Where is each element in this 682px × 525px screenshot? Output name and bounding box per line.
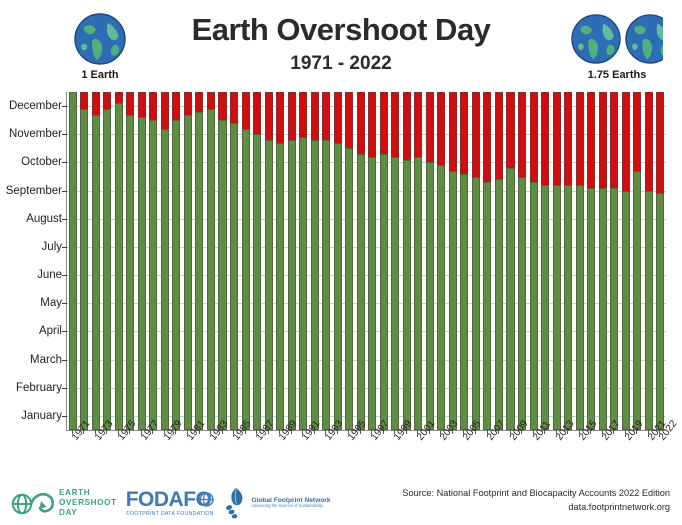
overshoot-segment — [115, 92, 123, 103]
bar-1996 — [357, 92, 365, 430]
overshoot-segment — [449, 92, 457, 171]
biocapacity-segment — [518, 177, 526, 431]
biocapacity-segment — [103, 109, 111, 430]
overshoot-segment — [149, 92, 157, 120]
bar-1987 — [253, 92, 261, 430]
bar-series — [67, 92, 666, 430]
biocapacity-segment — [242, 129, 250, 430]
biocapacity-segment — [288, 140, 296, 430]
biocapacity-segment — [357, 154, 365, 430]
biocapacity-segment — [311, 140, 319, 430]
eod-logo-line-3: DAY — [59, 508, 117, 518]
x-axis-tick — [360, 430, 361, 434]
biocapacity-segment — [506, 168, 514, 430]
overshoot-segment — [645, 92, 653, 191]
x-axis-tick — [452, 430, 453, 434]
overshoot-segment — [299, 92, 307, 137]
bar-2007 — [483, 92, 491, 430]
biocapacity-segment — [380, 154, 388, 430]
y-axis-label: May — [40, 297, 62, 309]
source-line-2: data.footprintnetwork.org — [402, 500, 670, 514]
x-axis-tick — [106, 430, 107, 434]
biocapacity-segment — [426, 162, 434, 430]
earth-overshoot-day-logo[interactable]: EARTH OVERSHOOT DAY — [10, 488, 117, 518]
header: Earth Overshoot Day 1971 - 2022 1 Earth — [0, 0, 682, 92]
y-axis-label: November — [9, 128, 62, 140]
earth-overshoot-day-infographic: Earth Overshoot Day 1971 - 2022 1 Earth — [0, 0, 682, 525]
y-axis-label: December — [9, 100, 62, 112]
globe-loop-icon — [10, 488, 56, 518]
globe-row-left — [52, 10, 148, 68]
overshoot-segment — [495, 92, 503, 179]
x-axis-tick — [636, 430, 637, 434]
overshoot-segment — [587, 92, 595, 188]
overshoot-segment — [403, 92, 411, 160]
eod-logo-line-2: OVERSHOOT — [59, 498, 117, 508]
biocapacity-segment — [472, 177, 480, 431]
globe-row-right — [552, 10, 682, 68]
bar-2017 — [599, 92, 607, 430]
overshoot-segment — [530, 92, 538, 182]
biocapacity-segment — [599, 188, 607, 430]
x-axis-tick — [337, 430, 338, 434]
biocapacity-segment — [138, 117, 146, 430]
biocapacity-segment — [218, 120, 226, 430]
overshoot-segment — [483, 92, 491, 182]
gfn-tagline: Advancing the Science of Sustainability — [251, 504, 330, 509]
bar-1985 — [230, 92, 238, 430]
fodafo-tagline: FOOTPRINT DATA FOUNDATION — [126, 511, 213, 517]
y-axis-label: August — [26, 213, 62, 225]
bar-2008 — [495, 92, 503, 430]
overshoot-segment — [242, 92, 250, 129]
overshoot-segment — [195, 92, 203, 112]
x-axis-tick — [544, 430, 545, 434]
biocapacity-segment — [530, 182, 538, 430]
overshoot-segment — [553, 92, 561, 185]
globe-dot-icon — [199, 492, 214, 507]
bar-2005 — [460, 92, 468, 430]
bar-1982 — [195, 92, 203, 430]
overshoot-segment — [518, 92, 526, 177]
overshoot-segment — [218, 92, 226, 120]
overshoot-segment — [80, 92, 88, 109]
overshoot-segment — [357, 92, 365, 154]
biocapacity-segment — [265, 140, 273, 430]
biocapacity-segment — [230, 123, 238, 430]
overshoot-segment — [391, 92, 399, 157]
overshoot-segment — [138, 92, 146, 117]
bar-1971 — [69, 92, 77, 430]
biocapacity-segment — [403, 160, 411, 430]
overshoot-segment — [334, 92, 342, 143]
overshoot-segment — [265, 92, 273, 140]
y-axis-label: February — [16, 382, 62, 394]
x-axis-tick — [314, 430, 315, 434]
overshoot-segment — [437, 92, 445, 165]
x-axis-tick — [383, 430, 384, 434]
biocapacity-segment — [276, 143, 284, 430]
overshoot-segment — [472, 92, 480, 177]
overshoot-segment — [288, 92, 296, 140]
overshoot-segment — [184, 92, 192, 115]
bar-2010 — [518, 92, 526, 430]
biocapacity-segment — [391, 157, 399, 430]
gfn-text-block: Global Footprint Network Advancing the S… — [251, 497, 330, 509]
biocapacity-segment — [184, 115, 192, 430]
bar-2019 — [622, 92, 630, 430]
overshoot-segment — [576, 92, 584, 185]
x-axis-tick — [498, 430, 499, 434]
biocapacity-segment — [449, 171, 457, 430]
biocapacity-segment — [633, 171, 641, 430]
x-axis-tick — [429, 430, 430, 434]
overshoot-segment — [322, 92, 330, 140]
overshoot-segment — [460, 92, 468, 174]
biocapacity-segment — [495, 179, 503, 430]
overshoot-segment — [230, 92, 238, 123]
x-axis-tick — [199, 430, 200, 434]
x-axis-tick — [83, 430, 84, 434]
overshoot-segment — [541, 92, 549, 185]
bar-1984 — [218, 92, 226, 430]
x-axis-tick — [291, 430, 292, 434]
bar-1975 — [115, 92, 123, 430]
biocapacity-segment — [253, 134, 261, 430]
overshoot-segment — [414, 92, 422, 157]
x-axis-labels: 1971197319751977197919811983198519871989… — [0, 430, 682, 480]
overshoot-segment — [564, 92, 572, 185]
biocapacity-segment — [207, 109, 215, 430]
overshoot-segment — [92, 92, 100, 115]
bar-1977 — [138, 92, 146, 430]
bar-1990 — [288, 92, 296, 430]
biocapacity-segment — [161, 129, 169, 430]
bar-1995 — [345, 92, 353, 430]
bar-2011 — [530, 92, 538, 430]
biocapacity-segment — [368, 157, 376, 430]
bar-2003 — [437, 92, 445, 430]
overshoot-segment — [207, 92, 215, 109]
y-axis-label: July — [42, 241, 62, 253]
overshoot-segment — [172, 92, 180, 120]
biocapacity-segment — [656, 193, 664, 430]
earths-label: 1.75 Earths — [552, 69, 682, 81]
biocapacity-segment — [541, 185, 549, 430]
global-footprint-network-logo[interactable]: Global Footprint Network Advancing the S… — [223, 487, 330, 519]
bar-2004 — [449, 92, 457, 430]
x-axis-tick — [567, 430, 568, 434]
bar-2020 — [633, 92, 641, 430]
biocapacity-segment — [622, 191, 630, 430]
biocapacity-segment — [345, 148, 353, 430]
bar-2021 — [645, 92, 653, 430]
biocapacity-segment — [414, 157, 422, 430]
source-line-1: Source: National Footprint and Biocapaci… — [402, 486, 670, 500]
biocapacity-segment — [553, 185, 561, 430]
overshoot-segment — [426, 92, 434, 162]
overshoot-segment — [276, 92, 284, 143]
bar-2009 — [506, 92, 514, 430]
bar-2001 — [414, 92, 422, 430]
x-axis-tick — [406, 430, 407, 434]
biocapacity-segment — [299, 137, 307, 430]
one-earth-label: 1 Earth — [52, 69, 148, 81]
footer: EARTH OVERSHOOT DAY FODAFO FOOTPRINT DAT… — [0, 478, 682, 525]
biocapacity-segment — [564, 185, 572, 430]
bar-2002 — [426, 92, 434, 430]
biocapacity-segment — [195, 112, 203, 430]
biocapacity-segment — [80, 109, 88, 430]
x-axis-tick — [613, 430, 614, 434]
y-axis-label: June — [37, 269, 62, 281]
bar-2018 — [610, 92, 618, 430]
biocapacity-segment — [115, 103, 123, 430]
logo-group: EARTH OVERSHOOT DAY FODAFO FOOTPRINT DAT… — [10, 483, 331, 523]
x-axis-tick — [175, 430, 176, 434]
x-axis-tick — [268, 430, 269, 434]
biocapacity-segment — [334, 143, 342, 430]
globe-icon — [74, 13, 126, 65]
eod-logo-text: EARTH OVERSHOOT DAY — [59, 488, 117, 518]
biocapacity-segment — [126, 115, 134, 430]
bar-1979 — [161, 92, 169, 430]
biocapacity-segment — [460, 174, 468, 430]
bar-1988 — [265, 92, 273, 430]
x-axis-tick — [521, 430, 522, 434]
overshoot-segment — [103, 92, 111, 109]
biocapacity-segment — [576, 185, 584, 430]
x-axis-tick — [222, 430, 223, 434]
bar-1976 — [126, 92, 134, 430]
bar-2006 — [472, 92, 480, 430]
overshoot-segment — [126, 92, 134, 115]
bar-1991 — [299, 92, 307, 430]
source-attribution: Source: National Footprint and Biocapaci… — [402, 486, 670, 515]
overshoot-segment — [380, 92, 388, 154]
bar-1997 — [368, 92, 376, 430]
y-axis-label: January — [21, 410, 62, 422]
biocapacity-segment — [483, 182, 491, 430]
y-axis-label: March — [30, 354, 62, 366]
globe-icon — [571, 14, 621, 64]
y-axis-labels: JanuaryFebruaryMarchAprilMayJuneJulyAugu… — [0, 92, 62, 430]
overshoot-segment — [656, 92, 664, 193]
biocapacity-segment — [69, 92, 77, 430]
bar-1993 — [322, 92, 330, 430]
y-axis-label: April — [39, 325, 62, 337]
overshoot-segment — [253, 92, 261, 134]
fodafo-wordmark: FODAFO — [126, 489, 215, 510]
x-axis-tick — [590, 430, 591, 434]
chart-plot-area — [66, 92, 665, 430]
one-point-seventyfive-earths-indicator: 1.75 Earths — [552, 10, 682, 81]
bar-1989 — [276, 92, 284, 430]
biocapacity-segment — [437, 165, 445, 430]
fodafo-logo[interactable]: FODAFO FOOTPRINT DATA FOUNDATION — [126, 489, 215, 517]
bar-2015 — [576, 92, 584, 430]
overshoot-segment — [599, 92, 607, 188]
overshoot-segment — [610, 92, 618, 188]
biocapacity-segment — [92, 115, 100, 430]
biocapacity-segment — [322, 140, 330, 430]
bar-2000 — [403, 92, 411, 430]
bar-2014 — [564, 92, 572, 430]
bar-1980 — [172, 92, 180, 430]
overshoot-segment — [633, 92, 641, 171]
bar-1973 — [92, 92, 100, 430]
bar-1981 — [184, 92, 192, 430]
bar-1983 — [207, 92, 215, 430]
bar-1999 — [391, 92, 399, 430]
bar-2022 — [656, 92, 664, 430]
biocapacity-segment — [172, 120, 180, 430]
y-axis-label: September — [6, 185, 62, 197]
bar-2013 — [553, 92, 561, 430]
overshoot-segment — [161, 92, 169, 129]
x-axis-tick — [245, 430, 246, 434]
biocapacity-segment — [610, 188, 618, 430]
overshoot-segment — [506, 92, 514, 168]
overshoot-segment — [622, 92, 630, 191]
x-axis-tick — [475, 430, 476, 434]
bar-1994 — [334, 92, 342, 430]
bar-1974 — [103, 92, 111, 430]
one-earth-indicator: 1 Earth — [52, 10, 148, 81]
eod-logo-line-1: EARTH — [59, 488, 117, 498]
footprint-leaf-icon — [223, 487, 249, 519]
overshoot-segment — [311, 92, 319, 140]
overshoot-segment — [368, 92, 376, 157]
bar-1978 — [149, 92, 157, 430]
y-axis-label: October — [21, 156, 62, 168]
x-axis-tick — [152, 430, 153, 434]
bar-1972 — [80, 92, 88, 430]
x-axis-tick — [129, 430, 130, 434]
biocapacity-segment — [587, 188, 595, 430]
bar-1998 — [380, 92, 388, 430]
bar-2016 — [587, 92, 595, 430]
overshoot-segment — [345, 92, 353, 148]
bar-1992 — [311, 92, 319, 430]
biocapacity-segment — [149, 120, 157, 430]
bar-1986 — [242, 92, 250, 430]
biocapacity-segment — [645, 191, 653, 430]
bar-2012 — [541, 92, 549, 430]
globe-partial-icon — [625, 14, 663, 64]
